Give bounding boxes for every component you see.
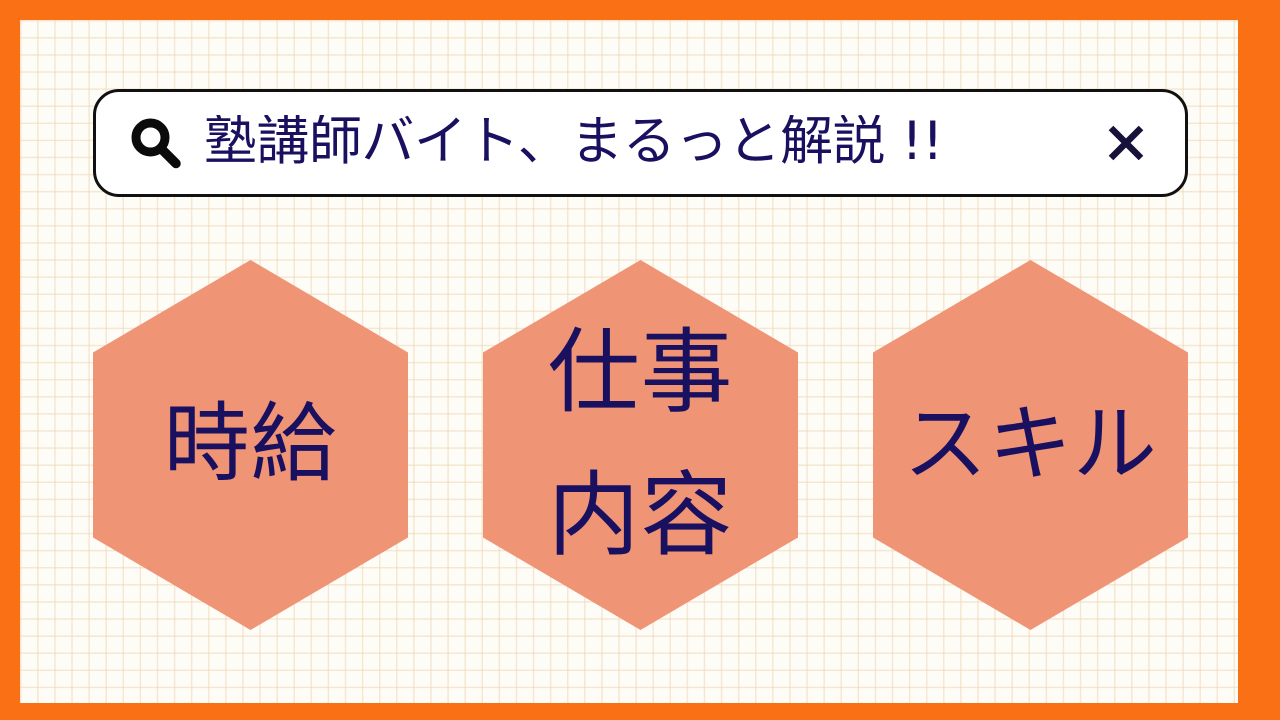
search-input-value[interactable]: 塾講師バイト、まるっと解説 !! [204, 115, 1089, 168]
hexagon-label: スキル [903, 400, 1158, 489]
search-bar[interactable]: 塾講師バイト、まるっと解説 !! [93, 89, 1188, 197]
close-icon[interactable] [1103, 120, 1149, 166]
search-icon [130, 117, 182, 169]
hexagon-label: 時給 [164, 399, 338, 490]
slide-canvas: 塾講師バイト、まるっと解説 !! 時給 仕事 内容 スキル [0, 0, 1280, 720]
hexagon-label: 仕事 内容 [548, 302, 734, 587]
